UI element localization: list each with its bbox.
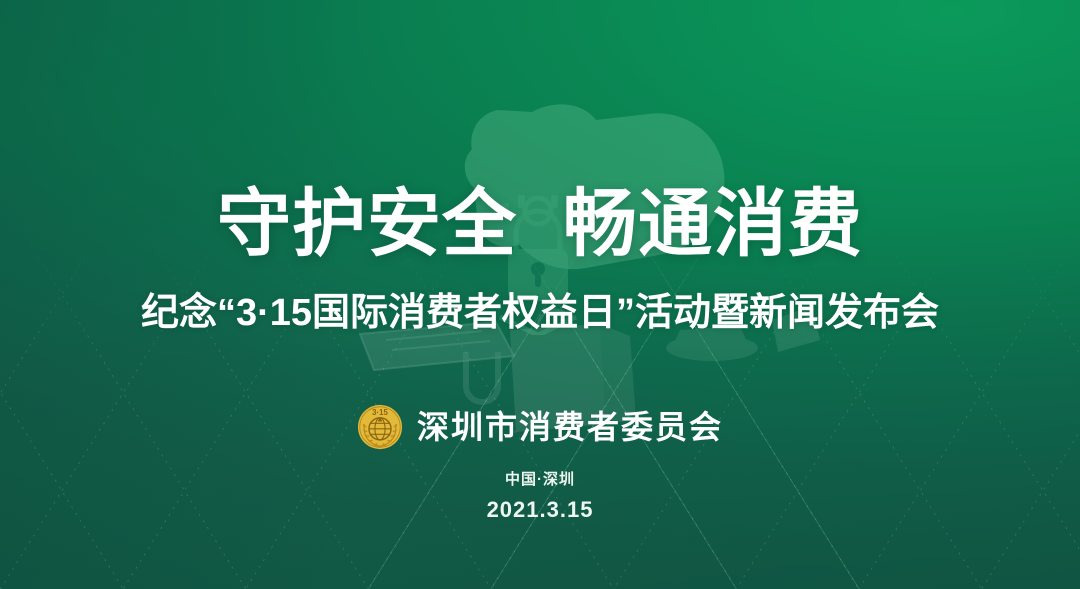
consumer-association-logo-icon: 3·15 — [357, 404, 403, 450]
organization-row: 3·15 深圳市消费者委员会 — [0, 404, 1080, 450]
event-location: 中国·深圳 — [0, 468, 1080, 492]
svg-text:3·15: 3·15 — [372, 408, 388, 417]
event-date: 2021.3.15 — [0, 494, 1080, 526]
poster-subtitle: 纪念“3·15国际消费者权益日”活动暨新闻发布会 — [0, 287, 1080, 339]
event-poster: 守护安全畅通消费 纪念“3·15国际消费者权益日”活动暨新闻发布会 3·15 — [0, 0, 1080, 589]
poster-title-part2: 畅通消费 — [563, 182, 863, 265]
poster-title: 守护安全畅通消费 — [0, 178, 1080, 270]
poster-title-part1: 守护安全 — [217, 182, 517, 265]
organization-name: 深圳市消费者委员会 — [417, 405, 723, 449]
poster-meta: 中国·深圳 2021.3.15 — [0, 468, 1080, 526]
